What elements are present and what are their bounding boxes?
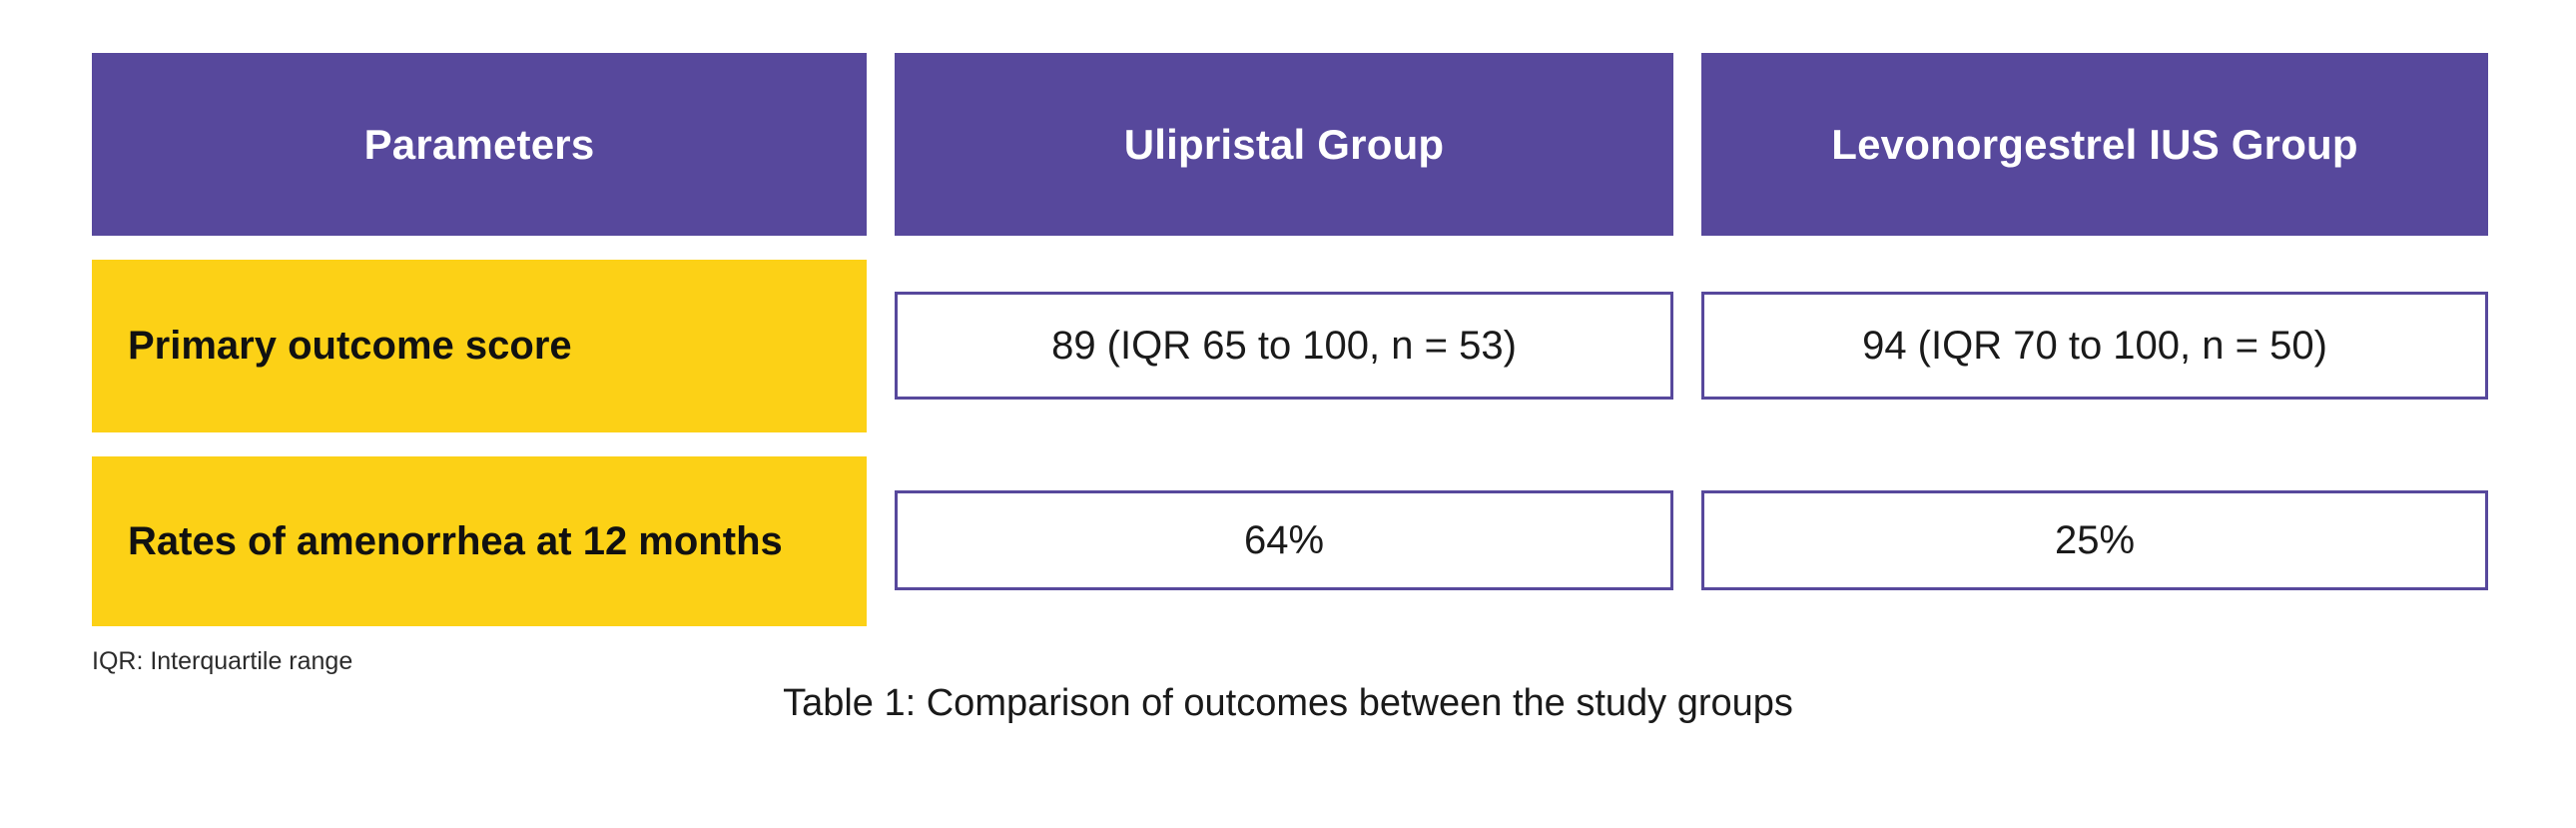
- value-levonorgestrel-primary-outcome: 94 (IQR 70 to 100, n = 50): [1862, 324, 2327, 369]
- parameter-label-rates-of-amenorrhea: Rates of amenorrhea at 12 months: [128, 515, 783, 568]
- table-figure: Parameters Ulipristal Group Levonorgestr…: [0, 0, 2576, 828]
- column-header-parameters: Parameters: [92, 53, 867, 236]
- table-footnote: IQR: Interquartile range: [92, 647, 352, 676]
- table-caption: Table 1: Comparison of outcomes between …: [0, 682, 2576, 725]
- parameter-label-primary-outcome-score: Primary outcome score: [128, 320, 572, 373]
- column-header-levonorgestrel: Levonorgestrel IUS Group: [1701, 53, 2488, 236]
- column-header-ulipristal-label: Ulipristal Group: [1124, 121, 1445, 169]
- value-ulipristal-amenorrhea-rate: 64%: [1244, 518, 1324, 563]
- outcomes-table: Parameters Ulipristal Group Levonorgestr…: [92, 53, 2486, 626]
- value-ulipristal-primary-outcome: 89 (IQR 65 to 100, n = 53): [1051, 324, 1517, 369]
- table-cell-ulipristal-amenorrhea-rate: 64%: [895, 490, 1673, 590]
- table-row-parameter-cell: Primary outcome score: [92, 260, 867, 432]
- table-row-parameter-cell: Rates of amenorrhea at 12 months: [92, 456, 867, 626]
- column-header-ulipristal: Ulipristal Group: [895, 53, 1673, 236]
- table-cell-levonorgestrel-primary-outcome: 94 (IQR 70 to 100, n = 50): [1701, 292, 2488, 400]
- table-cell-ulipristal-primary-outcome: 89 (IQR 65 to 100, n = 53): [895, 292, 1673, 400]
- column-header-parameters-label: Parameters: [364, 121, 595, 169]
- value-levonorgestrel-amenorrhea-rate: 25%: [2055, 518, 2135, 563]
- column-header-levonorgestrel-label: Levonorgestrel IUS Group: [1831, 121, 2358, 169]
- table-cell-levonorgestrel-amenorrhea-rate: 25%: [1701, 490, 2488, 590]
